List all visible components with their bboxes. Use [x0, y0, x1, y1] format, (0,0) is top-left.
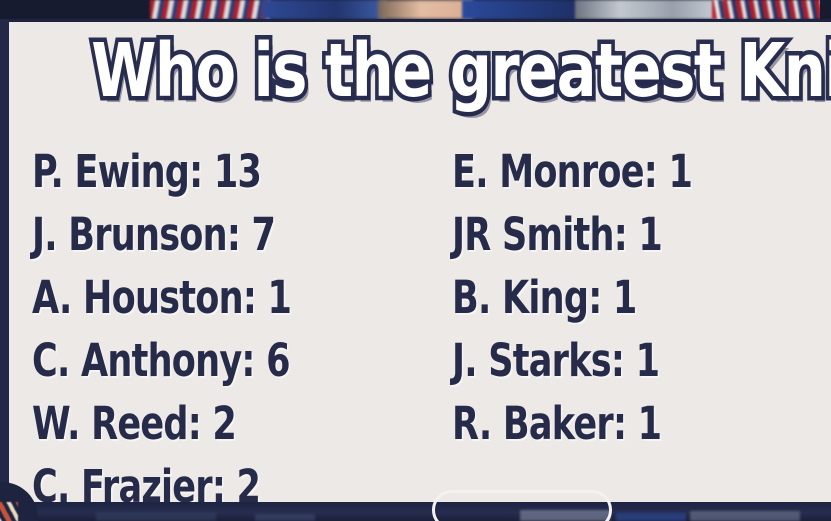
panel-left-border: [0, 19, 9, 503]
results-left-column: P. Ewing: 13 J. Brunson: 7 A. Houston: 1…: [32, 140, 364, 518]
results-right-column: E. Monroe: 1 JR Smith: 1 B. King: 1 J. S…: [452, 140, 760, 455]
list-item: R. Baker: 1: [452, 392, 692, 455]
video-grey-crowd: [575, 0, 725, 19]
bottom-rounded-outline-overlay[interactable]: [432, 490, 612, 521]
bottom-bar-shape: [96, 512, 216, 521]
bottom-bar-shape: [255, 514, 315, 521]
video-frame-strip: [0, 0, 831, 19]
list-item: P. Ewing: 13: [32, 140, 291, 203]
poll-results: P. Ewing: 13 J. Brunson: 7 A. Houston: 1…: [9, 140, 831, 500]
video-blue-backdrop-left: [262, 0, 387, 19]
video-flag-bunting-right: [712, 0, 827, 19]
list-item: A. Houston: 1: [32, 266, 291, 329]
video-dark-left-edge: [0, 0, 152, 19]
poll-sheet: Who is the greatest Knick? P. Ewing: 13 …: [9, 22, 831, 502]
badge-stripes-icon: [0, 502, 18, 521]
video-dark-right-edge: [820, 0, 831, 19]
list-item: C. Anthony: 6: [32, 329, 291, 392]
list-item: E. Monroe: 1: [452, 140, 692, 203]
poll-graphic-screenshot: Who is the greatest Knick? P. Ewing: 13 …: [0, 0, 831, 521]
bottom-bar-shape: [690, 511, 800, 521]
list-item: JR Smith: 1: [452, 203, 692, 266]
video-blue-backdrop-right: [462, 0, 582, 19]
page-title: Who is the greatest Knick?: [91, 28, 749, 114]
list-item: J. Brunson: 7: [32, 203, 291, 266]
bottom-video-bar: [0, 502, 831, 521]
list-item: W. Reed: 2: [32, 392, 291, 455]
list-item: B. King: 1: [452, 266, 692, 329]
video-person-face: [378, 0, 473, 19]
list-item: J. Starks: 1: [452, 329, 692, 392]
bottom-bar-shape: [616, 513, 686, 521]
video-flag-bunting-left: [150, 0, 270, 19]
